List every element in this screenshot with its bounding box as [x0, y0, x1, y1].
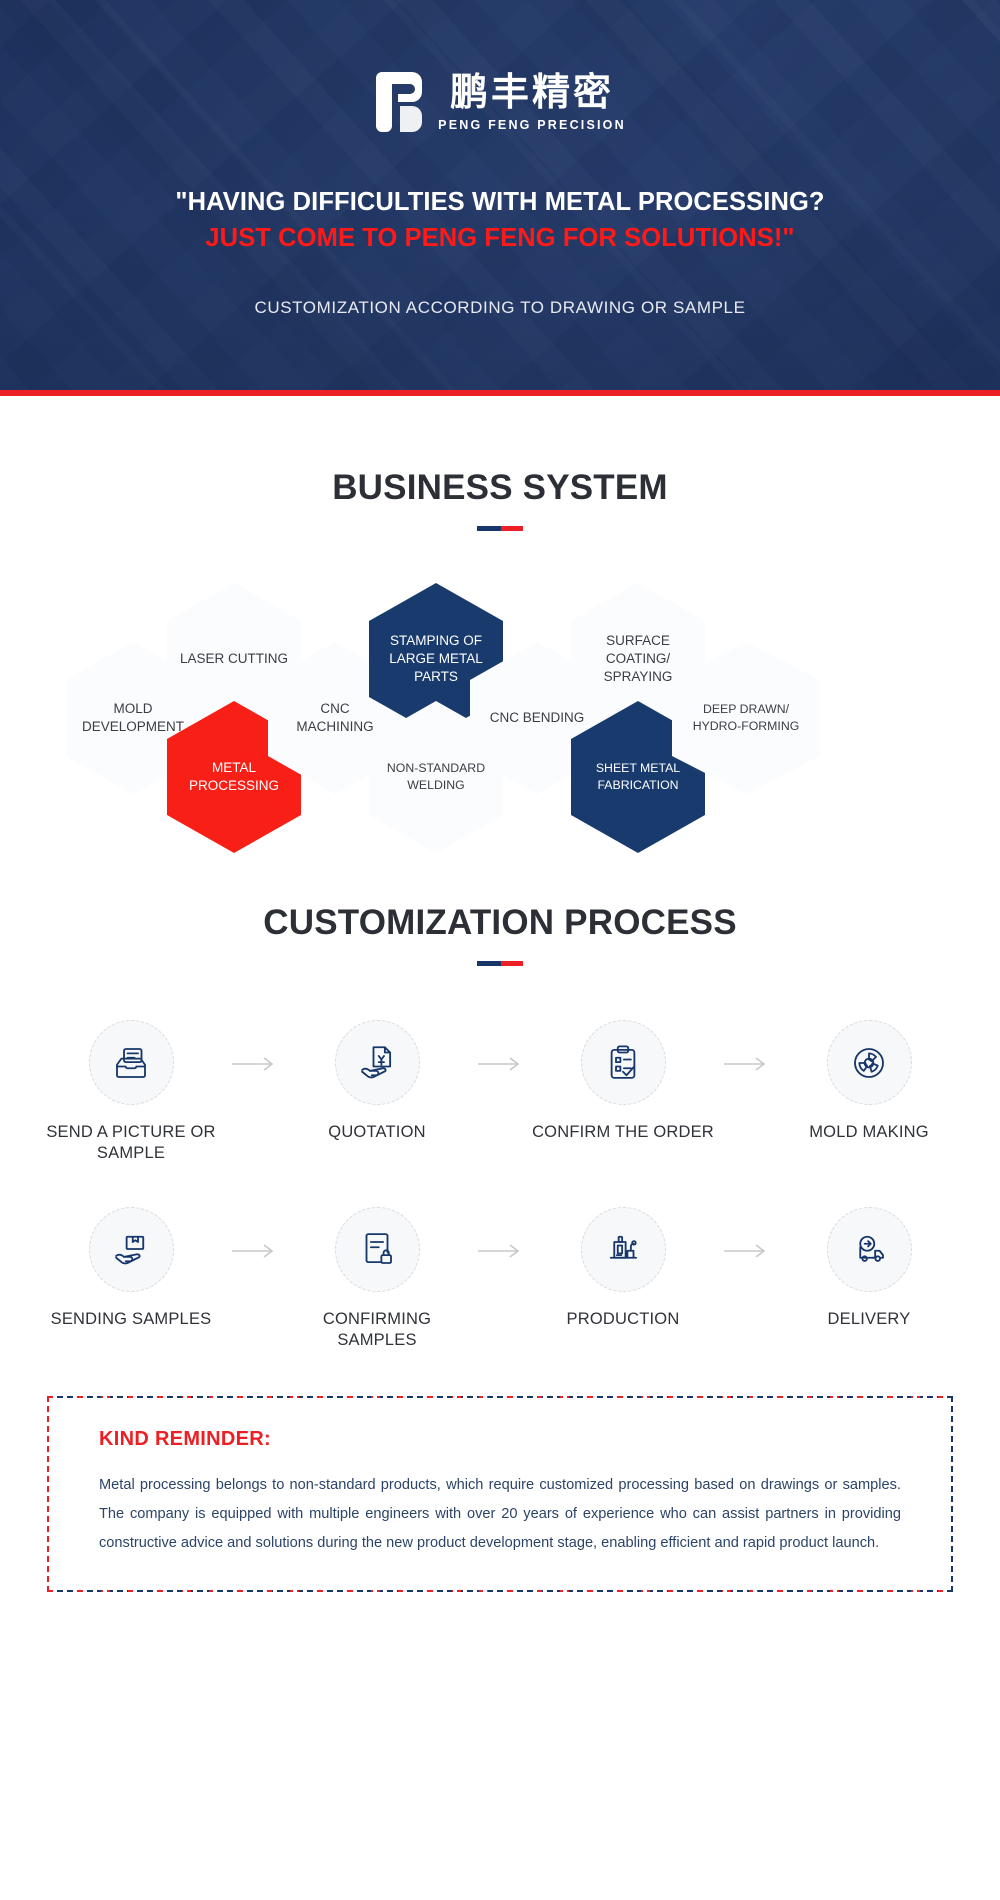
hex-label: DEEP DRAWN/ HYDRO-FORMING — [684, 701, 808, 734]
process-step-confirm-order[interactable]: CONFIRM THE ORDER — [531, 1020, 715, 1143]
divider-red-segment — [501, 961, 523, 966]
process-step-label: DELIVERY — [777, 1309, 961, 1330]
hero-headline: "HAVING DIFFICULTIES WITH METAL PROCESSI… — [0, 184, 1000, 256]
customization-process-section: CUSTOMIZATION PROCESS SEND A — [0, 903, 1000, 1352]
kind-reminder-box: KIND REMINDER: Metal processing belongs … — [47, 1396, 953, 1593]
mold-disc-icon — [827, 1020, 912, 1105]
hero-red-divider — [0, 390, 1000, 396]
factory-machine-icon — [581, 1207, 666, 1292]
process-arrow-icon — [715, 1243, 777, 1259]
divider-red-segment — [501, 526, 523, 531]
business-system-section: BUSINESS SYSTEM MOLD DEVELOPMENT LASER C… — [0, 468, 1000, 851]
hex-label: CNC MACHINING — [280, 700, 390, 736]
process-step-send-picture[interactable]: SEND A PICTURE OR SAMPLE — [39, 1020, 223, 1165]
logo-chinese-name: 鹏丰精密 — [450, 73, 614, 111]
process-step-label: SEND A PICTURE OR SAMPLE — [39, 1122, 223, 1165]
customization-process-title: CUSTOMIZATION PROCESS — [0, 903, 1000, 943]
process-step-confirming-samples[interactable]: CONFIRMING SAMPLES — [285, 1207, 469, 1352]
pf-monogram-icon — [374, 72, 422, 132]
process-arrow-icon — [469, 1056, 531, 1072]
process-step-quotation[interactable]: QUOTATION — [285, 1020, 469, 1143]
hex-label: NON-STANDARD WELDING — [381, 760, 491, 793]
hex-label: LASER CUTTING — [180, 650, 288, 668]
divider-navy-segment — [477, 526, 501, 531]
process-step-delivery[interactable]: DELIVERY — [777, 1207, 961, 1330]
divider-navy-segment — [477, 961, 501, 966]
hero-subtitle: CUSTOMIZATION ACCORDING TO DRAWING OR SA… — [0, 298, 1000, 318]
process-step-label: PRODUCTION — [531, 1309, 715, 1330]
business-system-title: BUSINESS SYSTEM — [0, 468, 1000, 508]
process-row-1: SEND A PICTURE OR SAMPLE QUOTATION — [0, 1020, 1000, 1165]
process-step-label: QUOTATION — [285, 1122, 469, 1143]
process-arrow-icon — [223, 1243, 285, 1259]
document-lock-icon — [335, 1207, 420, 1292]
hex-label: SHEET METAL FABRICATION — [583, 760, 693, 793]
delivery-truck-icon — [827, 1207, 912, 1292]
hero-banner: 鹏丰精密 PENG FENG PRECISION "HAVING DIFFICU… — [0, 0, 1000, 396]
section-divider-dash — [477, 526, 523, 531]
hex-label: METAL PROCESSING — [179, 759, 289, 795]
hand-price-document-icon — [335, 1020, 420, 1105]
hexagon-grid: MOLD DEVELOPMENT LASER CUTTING METAL PRO… — [0, 581, 1000, 851]
process-step-sending-samples[interactable]: SENDING SAMPLES — [39, 1207, 223, 1330]
process-step-label: CONFIRMING SAMPLES — [285, 1309, 469, 1352]
process-arrow-icon — [223, 1056, 285, 1072]
hero-headline-line1: "HAVING DIFFICULTIES WITH METAL PROCESSI… — [175, 188, 824, 216]
process-row-2: SENDING SAMPLES CON — [0, 1207, 1000, 1352]
clipboard-check-icon — [581, 1020, 666, 1105]
process-step-label: MOLD MAKING — [777, 1122, 961, 1143]
inbox-document-icon — [89, 1020, 174, 1105]
process-arrow-icon — [469, 1243, 531, 1259]
logo-english-name: PENG FENG PRECISION — [438, 118, 626, 132]
section-divider-dash-2 — [477, 961, 523, 966]
process-step-label: SENDING SAMPLES — [39, 1309, 223, 1330]
hero-headline-line2: JUST COME TO PENG FENG FOR SOLUTIONS!" — [0, 220, 1000, 256]
hand-package-icon — [89, 1207, 174, 1292]
process-step-production[interactable]: PRODUCTION — [531, 1207, 715, 1330]
process-arrow-icon — [715, 1056, 777, 1072]
hex-label: CNC BENDING — [490, 709, 585, 727]
kind-reminder-title: KIND REMINDER: — [99, 1428, 901, 1451]
hex-label: MOLD DEVELOPMENT — [78, 700, 188, 736]
process-step-mold-making[interactable]: MOLD MAKING — [777, 1020, 961, 1143]
process-step-label: CONFIRM THE ORDER — [531, 1122, 715, 1143]
kind-reminder-body: Metal processing belongs to non-standard… — [99, 1471, 901, 1559]
company-logo: 鹏丰精密 PENG FENG PRECISION — [0, 72, 1000, 132]
landing-page: 鹏丰精密 PENG FENG PRECISION "HAVING DIFFICU… — [0, 0, 1000, 1900]
